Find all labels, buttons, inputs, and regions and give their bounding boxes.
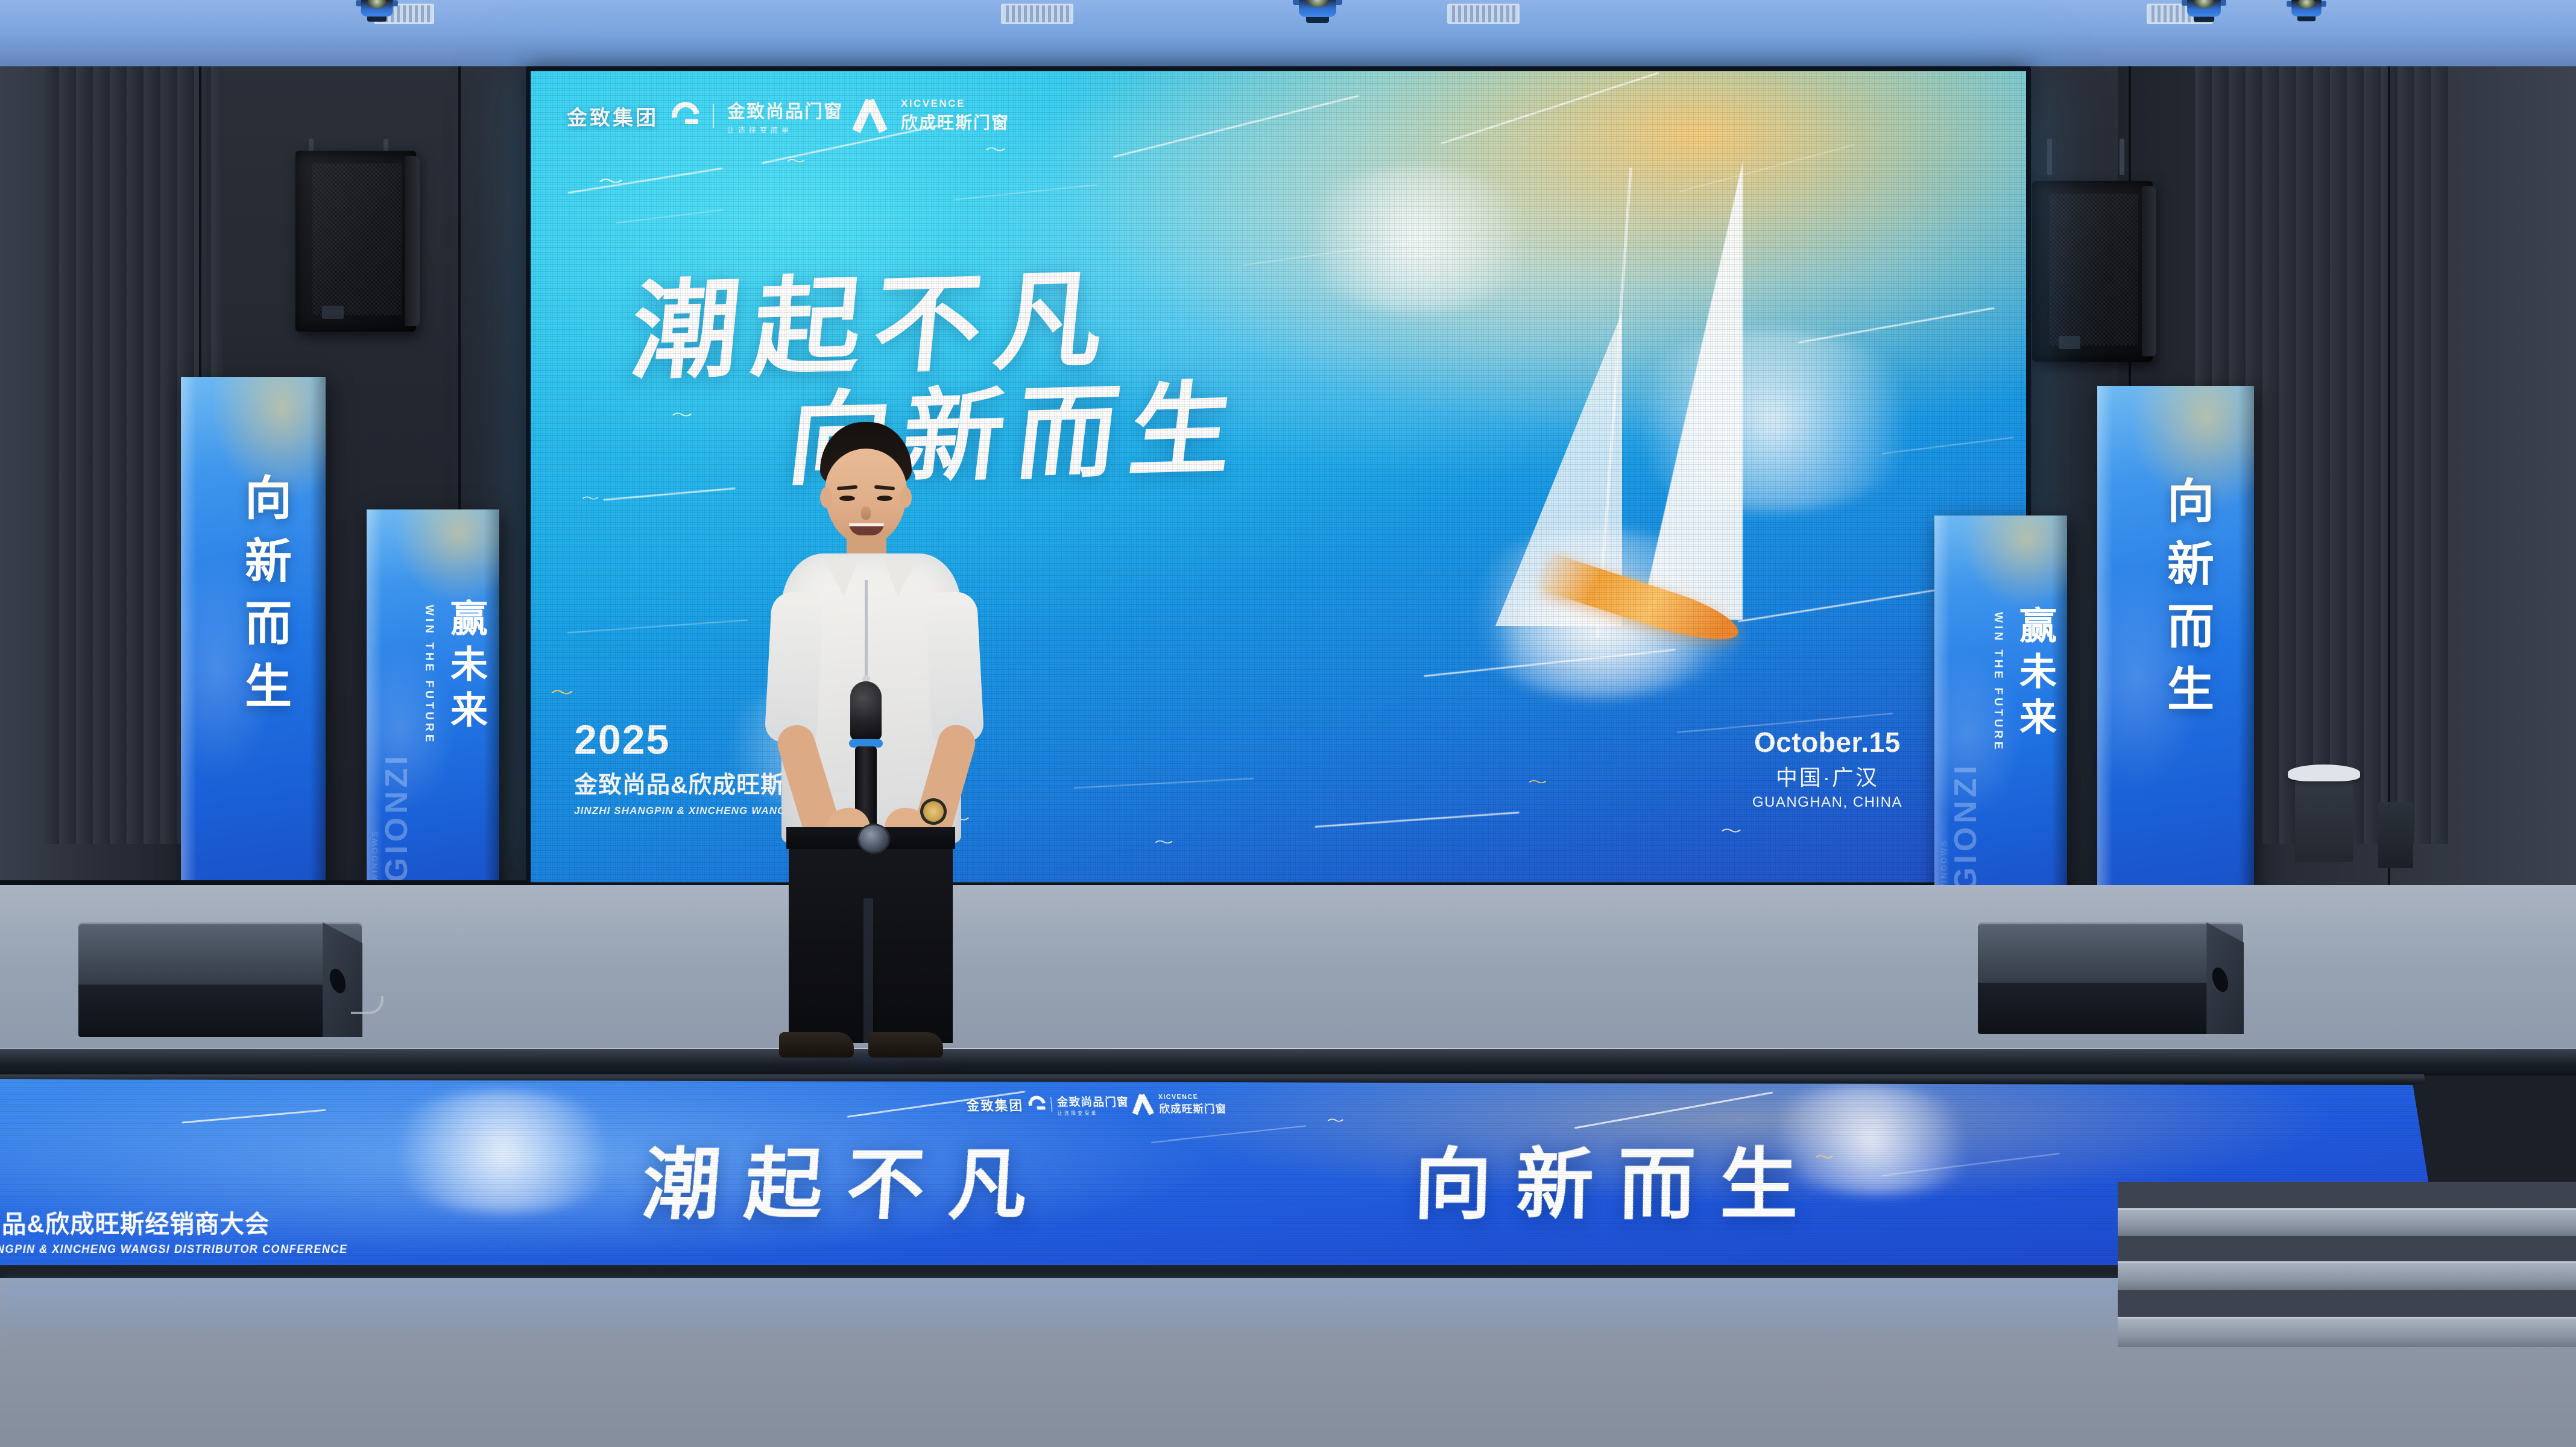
pillar-tall-left-text: 向新而生 [230, 473, 298, 724]
floor-brand1-slogan: 让选择变简单 [1058, 1110, 1099, 1117]
side-table [2295, 778, 2353, 862]
moving-head-stage-light-icon [2285, 0, 2328, 29]
brand1-name: 金致尚品门窗 [727, 96, 843, 123]
event-city-en: GUANGHAN, CHINA [1752, 794, 1902, 811]
foreground-led-strip: 〜 〜 〜 〜 金致集团 金致尚品门窗 让选择变简单 XICVENCE 欣成旺斯… [0, 1079, 2444, 1281]
pillar-short-left-watermark: GIONZI [379, 752, 415, 882]
pillar-short-right-watermark-sub: WINDOWS [1939, 839, 1948, 892]
speaker-presenter [765, 422, 988, 1061]
led-logo-bar: 金致集团 金致尚品门窗 让选择变简单 XICVENCE 欣成旺斯门窗 [567, 96, 1009, 135]
shoe-right [868, 1032, 943, 1058]
floor-reflection [0, 1278, 2412, 1351]
floor-brand2-name: 欣成旺斯门窗 [1158, 1101, 1227, 1116]
headline-line-1: 潮起不凡 [627, 262, 1249, 385]
main-led-screen: 〜 〜 〜 〜 〜 〜 〜 〜 〜 〜 金致集团 金致尚品门窗 让选择变简单 [531, 71, 2026, 882]
floor-headline-1: 潮起不凡 [639, 1121, 1054, 1234]
floor-event-year: 2025 [0, 1169, 347, 1201]
stage-front-face [0, 1049, 2576, 1076]
brand1-lockup: 金致尚品门窗 让选择变简单 [727, 96, 843, 135]
stage-stairs [2118, 1182, 2576, 1363]
group-name: 金致集团 [567, 101, 658, 131]
floor-headline-2: 向新而生 [1412, 1121, 1822, 1234]
pillar-short-left: 赢未来 WIN THE FUTURE GIONZI WINDOWS [367, 509, 499, 907]
event-city-cn: 中国·广汉 [1752, 760, 1902, 792]
hvac-air-vent-icon [1447, 4, 1520, 24]
floor-strip-logo-bar: 金致集团 金致尚品门窗 让选择变简单 XICVENCE 欣成旺斯门窗 [965, 1092, 1227, 1117]
sailboat-artwork [1471, 162, 1845, 752]
pillar-short-right-text: 赢未来 [2007, 606, 2061, 743]
moving-head-stage-light-icon [2180, 0, 2229, 31]
belt-buckle-icon [857, 824, 890, 854]
pillar-tall-right-text: 向新而生 [2153, 476, 2220, 727]
floor-event-title-en: JINZHI SHANGPIN & XINCHENG WANGSI DISTRI… [0, 1243, 348, 1255]
shoe-left [779, 1032, 854, 1058]
speaker-rigging [2120, 139, 2124, 175]
logo-divider [1050, 1097, 1052, 1112]
pillar-short-left-watermark-sub: WINDOWS [370, 830, 379, 882]
floor-event-title-cn: 金致尚品&欣成旺斯经销商大会 [0, 1204, 347, 1240]
floor-event-meta: 2025 金致尚品&欣成旺斯经销商大会 JINZHI SHANGPIN & XI… [0, 1169, 348, 1256]
brand2-en-name: XICVENCE [901, 98, 965, 110]
xicvence-x-mark-icon [1134, 1095, 1155, 1114]
hvac-air-vent-icon [1001, 4, 1073, 24]
floor-brand2-lockup: XICVENCE 欣成旺斯门窗 [1158, 1093, 1227, 1115]
pillar-tall-right: 向新而生 [2097, 386, 2254, 916]
brand1-slogan: 让选择变简单 [727, 125, 792, 135]
stage-photograph: 〜 〜 〜 〜 〜 〜 〜 〜 〜 〜 金致集团 金致尚品门窗 让选择变简单 [0, 0, 2576, 1447]
stage-monitor-left [78, 922, 362, 1037]
floor-brand1-lockup: 金致尚品门窗 让选择变简单 [1056, 1092, 1130, 1117]
gionzi-g-mark-icon [1028, 1096, 1047, 1114]
pillar-short-left-subtitle: WIN THE FUTURE [422, 605, 435, 745]
speaker-rigging [2047, 139, 2052, 175]
floor-brand2-en-name: XICVENCE [1158, 1093, 1198, 1100]
table-cloth [2288, 764, 2360, 781]
moving-head-stage-light-icon [354, 0, 400, 30]
pillar-short-right-watermark: GIONZI [1948, 762, 1984, 892]
brand2-lockup: XICVENCE 欣成旺斯门窗 [901, 98, 1009, 134]
gionzi-g-mark-icon [672, 102, 699, 130]
pillar-short-right: 赢未来 WIN THE FUTURE GIONZI WINDOWS [1934, 515, 2067, 913]
logo-divider [713, 104, 714, 128]
xicvence-x-mark-icon [856, 101, 888, 131]
event-date: October.15 [1752, 728, 1902, 757]
brand2-name: 欣成旺斯门窗 [901, 110, 1009, 134]
pillar-short-left-text: 赢未来 [438, 599, 492, 736]
pillar-tall-left: 向新而生 [181, 377, 326, 907]
stage-monitor-right [1978, 922, 2243, 1034]
waste-bin [2378, 802, 2413, 868]
floor-group-name: 金致集团 [966, 1095, 1024, 1114]
floor-brand1-name: 金致尚品门窗 [1056, 1092, 1129, 1109]
led-event-when-where: October.15 中国·广汉 GUANGHAN, CHINA [1752, 728, 1902, 811]
pillar-short-right-subtitle: WIN THE FUTURE [1991, 612, 2004, 752]
pa-speaker-left [295, 151, 416, 332]
moving-head-stage-light-icon [1290, 0, 1345, 33]
pa-speaker-right [2032, 181, 2153, 362]
wall-seam [2388, 66, 2390, 928]
